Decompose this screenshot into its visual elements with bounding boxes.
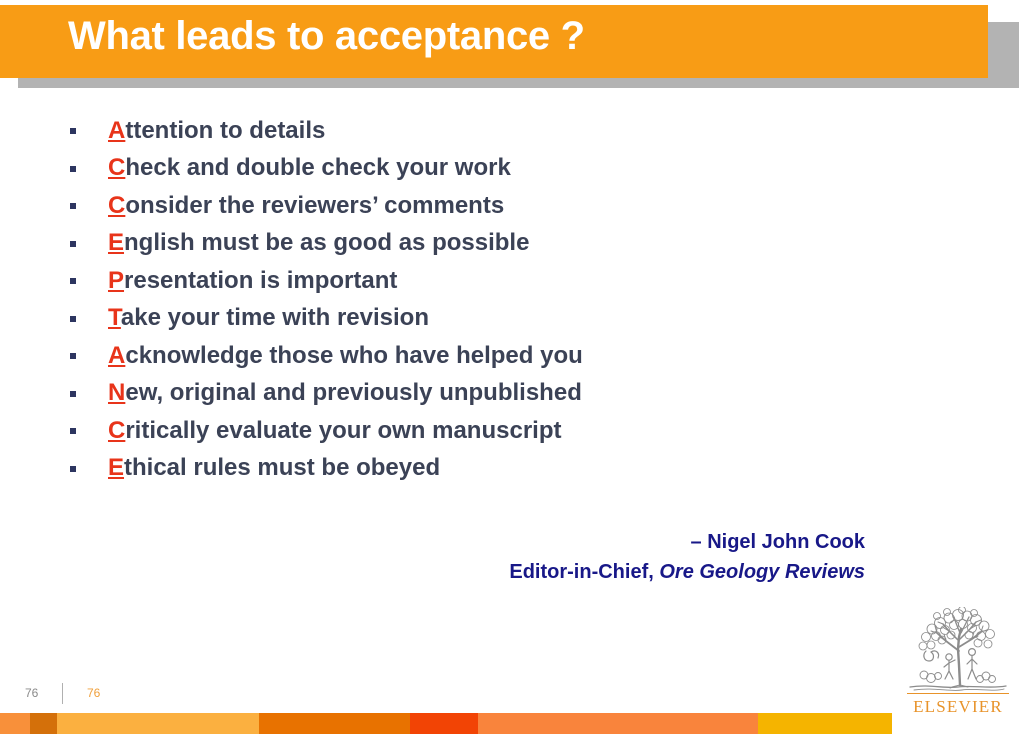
list-item: Acknowledge those who have helped you [62, 337, 862, 375]
list-item-text: Attention to details [108, 119, 325, 143]
list-item-rest: cknowledge those who have helped you [125, 342, 582, 369]
list-item-text: Critically evaluate your own manuscript [108, 419, 561, 443]
bottom-bar-segment [410, 713, 478, 734]
list-item-rest: onsider the reviewers’ comments [125, 192, 504, 219]
list-item-text: New, original and previously unpublished [108, 381, 582, 405]
bottom-bar-segment [30, 713, 57, 734]
bullet-square-icon [70, 353, 76, 359]
bullet-square-icon [70, 278, 76, 284]
page-number-left: 76 [25, 686, 38, 700]
bullet-square-icon [70, 203, 76, 209]
list-item-initial: C [108, 154, 125, 181]
list-item-initial: T [108, 304, 121, 331]
list-item-rest: thical rules must be obeyed [124, 454, 440, 481]
bullet-square-icon [70, 316, 76, 322]
elsevier-logo: ELSEVIER [902, 607, 1014, 715]
elsevier-tree-icon [902, 607, 1014, 695]
bottom-bar-segment [57, 713, 259, 734]
list-item: New, original and previously unpublished [62, 375, 862, 413]
list-item-text: Consider the reviewers’ comments [108, 194, 504, 218]
attribution-role-prefix: Editor-in-Chief, [509, 561, 659, 583]
page-title: What leads to acceptance ? [68, 14, 585, 59]
list-item-rest: nglish must be as good as possible [124, 229, 529, 256]
bottom-color-bar [0, 713, 1019, 734]
list-item-text: Ethical rules must be obeyed [108, 456, 440, 480]
list-item: Ethical rules must be obeyed [62, 450, 862, 488]
list-item-initial: E [108, 229, 124, 256]
list-item-rest: ew, original and previously unpublished [125, 379, 582, 406]
bottom-bar-segment [0, 713, 30, 734]
list-item-initial: N [108, 379, 125, 406]
list-item: Take your time with revision [62, 300, 862, 338]
slide: What leads to acceptance ? Attention to … [0, 0, 1019, 734]
page-number-divider [62, 683, 63, 704]
bullet-square-icon [70, 428, 76, 434]
list-item-initial: C [108, 192, 125, 219]
bullet-square-icon [70, 391, 76, 397]
bottom-bar-segment [758, 713, 892, 734]
attribution: – Nigel John Cook Editor-in-Chief, Ore G… [509, 527, 865, 587]
list-item-rest: ake your time with revision [121, 304, 429, 331]
list-item-initial: A [108, 117, 125, 144]
list-item-text: Presentation is important [108, 269, 397, 293]
list-item-initial: A [108, 342, 125, 369]
list-item-text: Take your time with revision [108, 306, 429, 330]
list-item-rest: ttention to details [125, 117, 325, 144]
list-item: Consider the reviewers’ comments [62, 187, 862, 225]
bullet-square-icon [70, 466, 76, 472]
list-item-initial: E [108, 454, 124, 481]
bullet-square-icon [70, 166, 76, 172]
list-item: Attention to details [62, 112, 862, 150]
bottom-bar-segment [259, 713, 410, 734]
bullet-list: Attention to details Check and double ch… [62, 112, 862, 487]
list-item-rest: heck and double check your work [125, 154, 510, 181]
attribution-journal-title: Ore Geology Reviews [659, 561, 865, 583]
list-item: Critically evaluate your own manuscript [62, 412, 862, 450]
bottom-bar-segment [478, 713, 758, 734]
list-item-initial: P [108, 267, 124, 294]
attribution-author: – Nigel John Cook [509, 527, 865, 557]
bullet-square-icon [70, 241, 76, 247]
page-number-right: 76 [87, 686, 100, 700]
list-item-text: English must be as good as possible [108, 231, 529, 255]
list-item-text: Acknowledge those who have helped you [108, 344, 583, 368]
bullet-square-icon [70, 128, 76, 134]
list-item: English must be as good as possible [62, 225, 862, 263]
list-item-text: Check and double check your work [108, 156, 511, 180]
list-item: Check and double check your work [62, 150, 862, 188]
list-item: Presentation is important [62, 262, 862, 300]
list-item-initial: C [108, 417, 125, 444]
list-item-rest: ritically evaluate your own manuscript [125, 417, 561, 444]
logo-rule [907, 693, 1009, 694]
list-item-rest: resentation is important [124, 267, 397, 294]
attribution-role: Editor-in-Chief, Ore Geology Reviews [509, 557, 865, 587]
